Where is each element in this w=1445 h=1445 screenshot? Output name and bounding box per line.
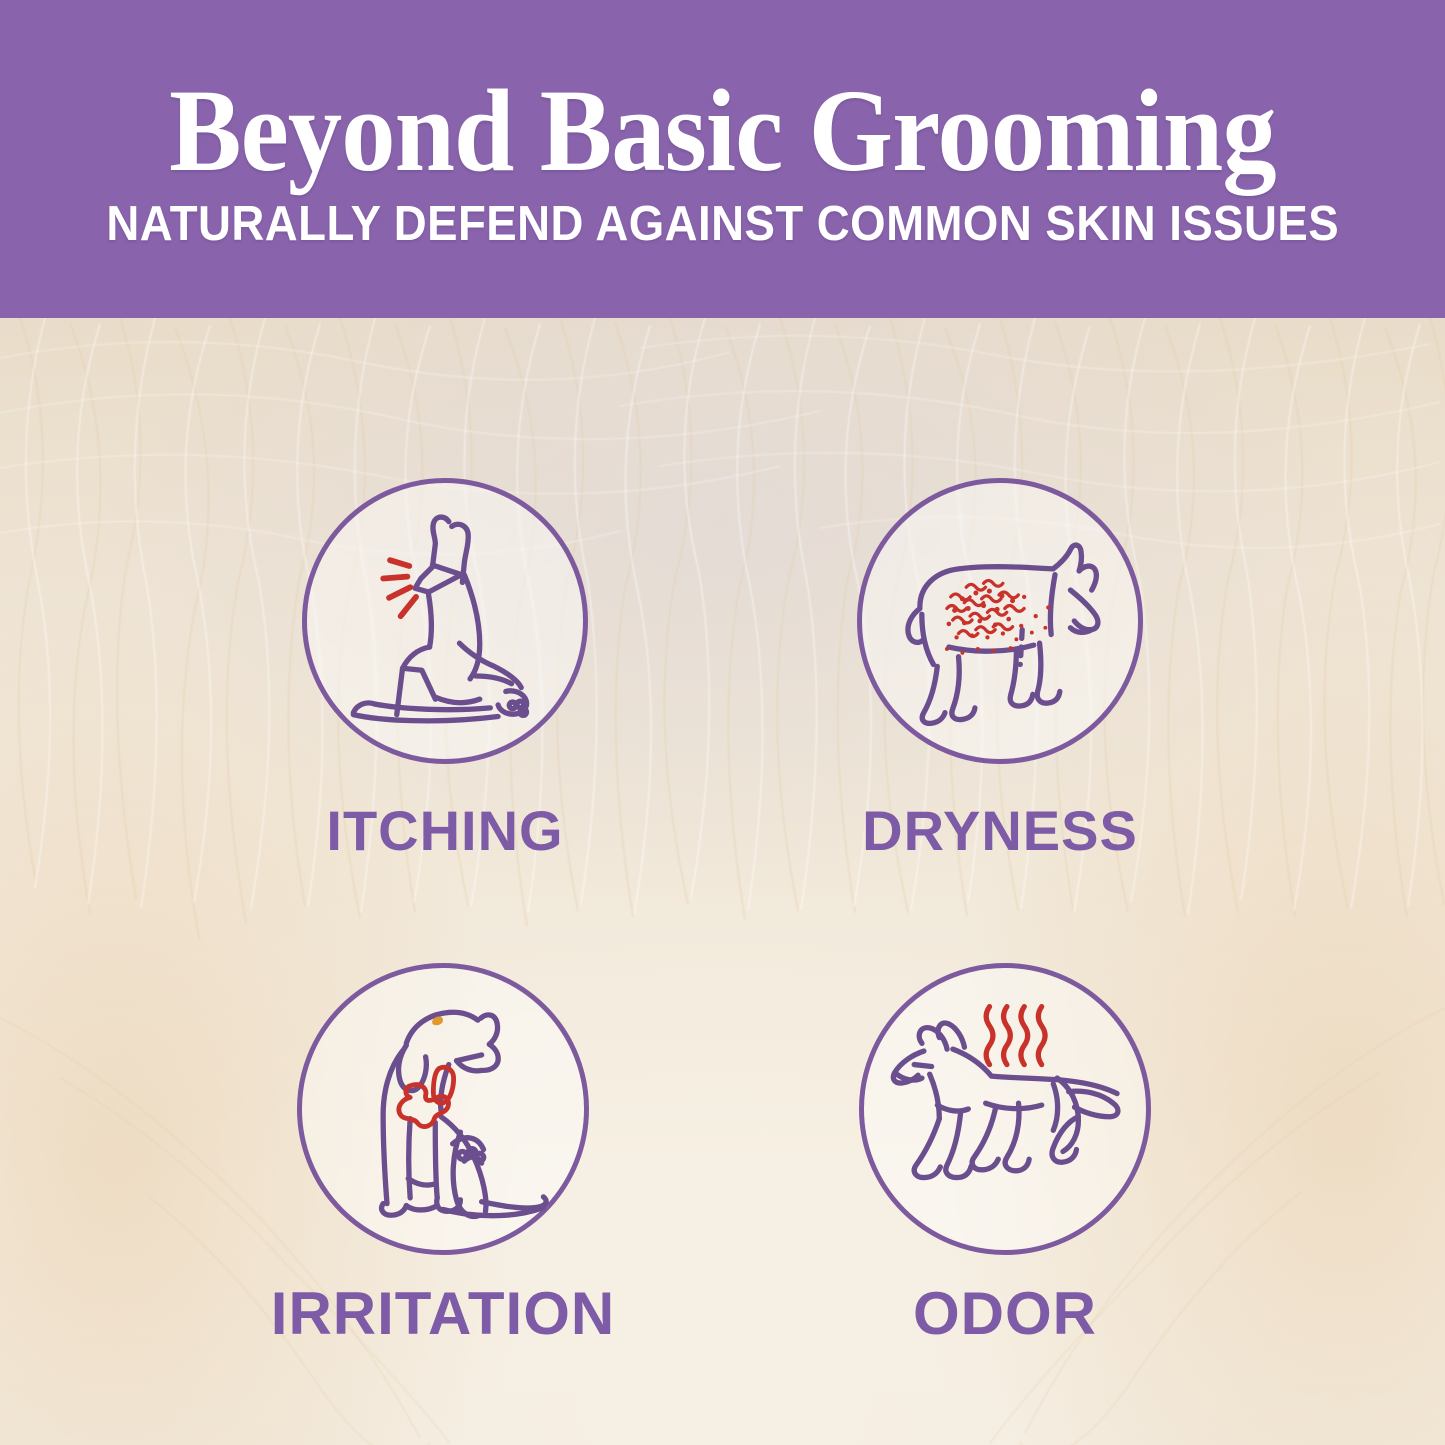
odor-badge [859,963,1151,1255]
itching-badge [302,478,588,764]
odor-wavy-lines [986,1007,1045,1065]
dog-sitting-irritated-icon [302,968,584,1250]
issue-label-irritation: IRRITATION [271,1279,615,1348]
issue-label-odor: ODOR [913,1279,1097,1348]
dryness-badge [857,478,1143,764]
issue-item-dryness[interactable]: DRYNESS [855,478,1145,863]
promo-graphic: Beyond Basic Grooming NATURALLY DEFEND A… [0,0,1445,1445]
itch-burst-lines [383,560,416,616]
dog-walking-odor-icon [864,968,1146,1250]
issue-label-dryness: DRYNESS [862,798,1138,863]
issue-item-odor[interactable]: ODOR [855,963,1155,1348]
issue-label-itching: ITCHING [326,798,563,863]
irritation-badge [297,963,589,1255]
page-subtitle: NATURALLY DEFEND AGAINST COMMON SKIN ISS… [106,196,1339,252]
dog-scratching-icon [307,483,583,759]
header-band: Beyond Basic Grooming NATURALLY DEFEND A… [0,0,1445,318]
page-title: Beyond Basic Grooming [169,72,1276,190]
issues-grid: ITCHING [0,318,1445,1445]
dog-flaky-skin-icon [862,483,1138,759]
issue-item-itching[interactable]: ITCHING [300,478,590,863]
issue-item-irritation[interactable]: IRRITATION [293,963,593,1348]
